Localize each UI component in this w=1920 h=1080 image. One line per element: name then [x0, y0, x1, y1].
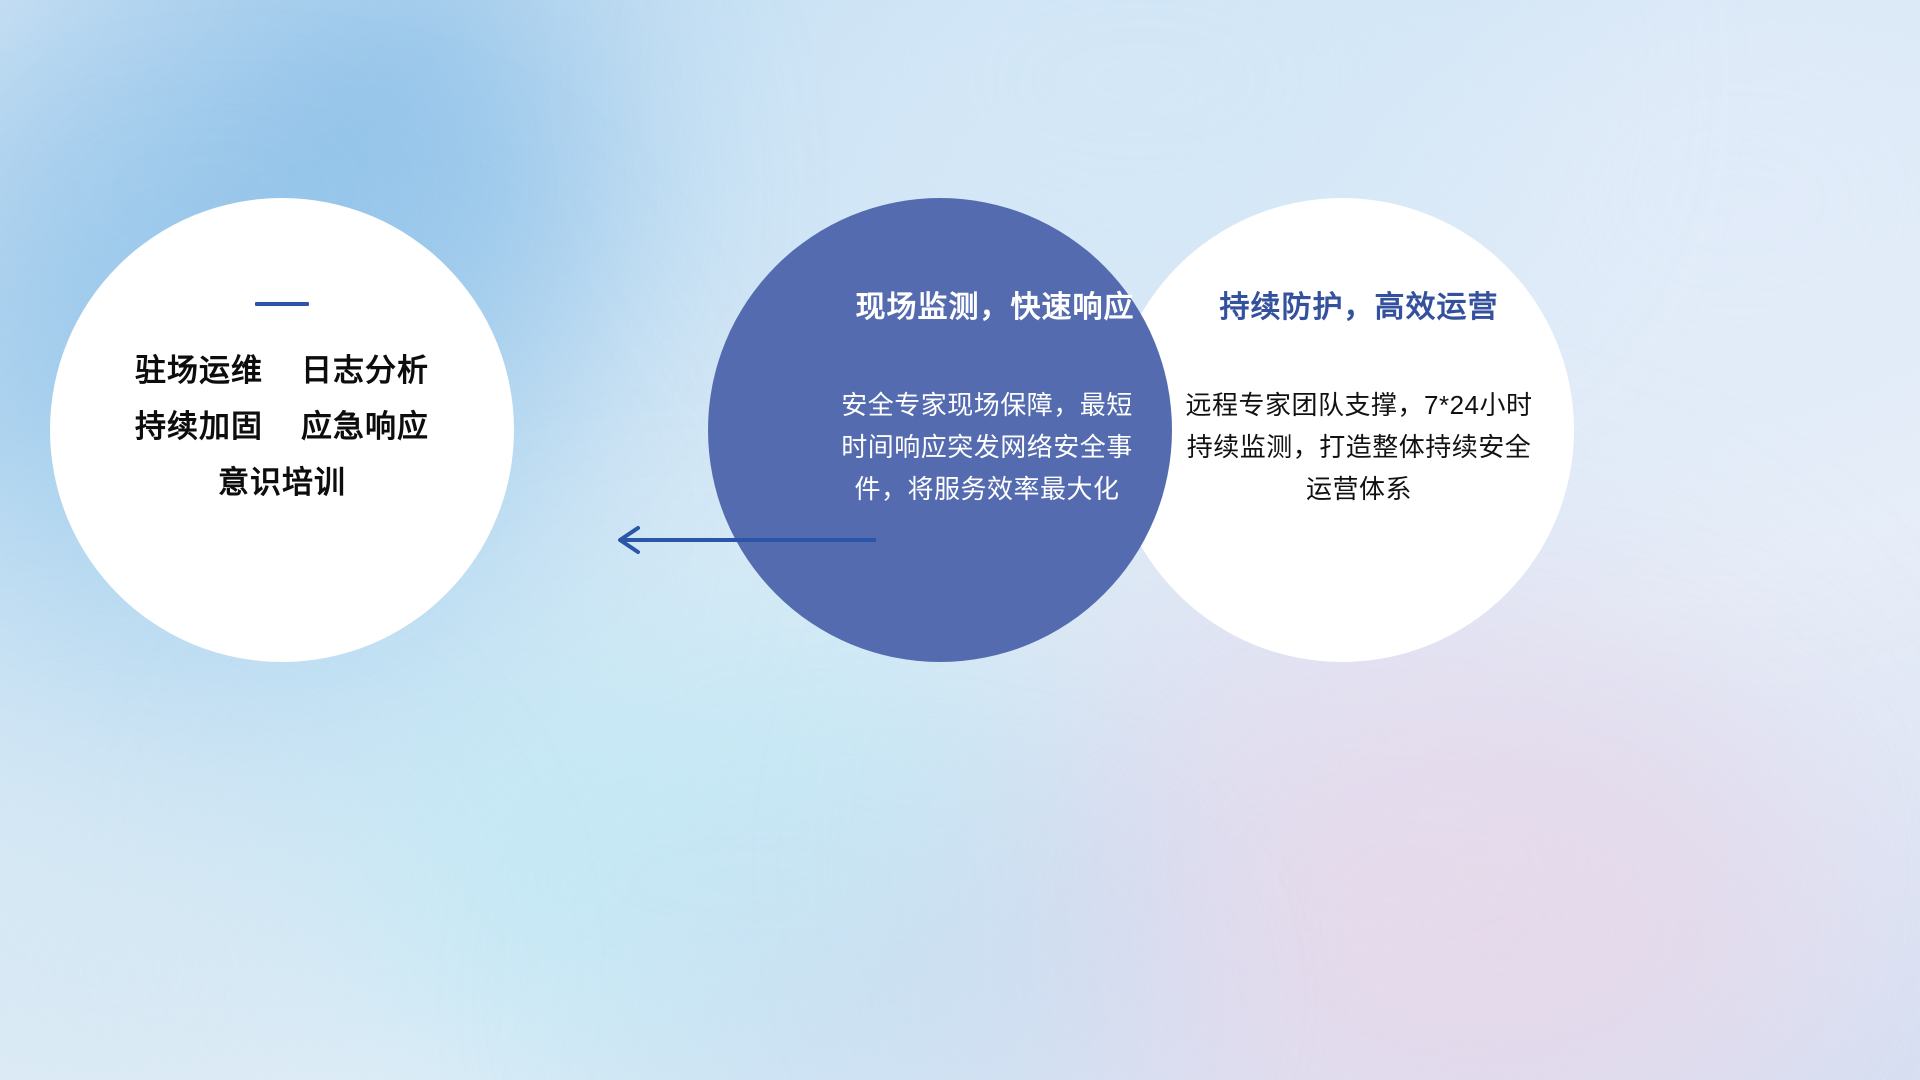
right-service-circle[interactable]: 持续防护，高效运营 远程专家团队支撑，7*24小时持续监测，打造整体持续安全运营… [1110, 198, 1574, 662]
right-circle-title: 持续防护，高效运营 [1220, 290, 1499, 326]
right-circle-content: 持续防护，高效运营 远程专家团队支撑，7*24小时持续监测，打造整体持续安全运营… [1110, 198, 1574, 662]
diagram-stage: 驻场运维 日志分析 持续加固 应急响应 意识培训 持续防护，高效运营 远程专家团… [0, 0, 1920, 1080]
right-circle-body: 远程专家团队支撑，7*24小时持续监测，打造整体持续安全运营体系 [1174, 384, 1544, 510]
keyword-row: 持续加固 应急响应 [135, 410, 429, 444]
keyword-row: 意识培训 [218, 466, 346, 500]
middle-service-circle[interactable]: 现场监测，快速响应 安全专家现场保障，最短时间响应突发网络安全事件，将服务效率最… [708, 198, 1172, 662]
left-service-circle[interactable]: 驻场运维 日志分析 持续加固 应急响应 意识培训 [50, 198, 514, 662]
keyword-grid: 驻场运维 日志分析 持续加固 应急响应 意识培训 [135, 354, 429, 500]
title-divider-rule [255, 302, 309, 306]
keyword-row: 驻场运维 日志分析 [135, 354, 429, 388]
keyword-item: 日志分析 [301, 354, 429, 388]
keyword-item: 应急响应 [301, 410, 429, 444]
middle-circle-body: 安全专家现场保障，最短时间响应突发网络安全事件，将服务效率最大化 [837, 384, 1137, 510]
left-circle-content: 驻场运维 日志分析 持续加固 应急响应 意识培训 [50, 198, 514, 662]
middle-circle-content: 现场监测，快速响应 安全专家现场保障，最短时间响应突发网络安全事件，将服务效率最… [708, 198, 1172, 662]
keyword-item: 驻场运维 [135, 354, 263, 388]
left-arrow-icon [600, 520, 880, 560]
keyword-item: 意识培训 [218, 466, 346, 500]
middle-circle-title: 现场监测，快速响应 [856, 290, 1135, 326]
keyword-item: 持续加固 [135, 410, 263, 444]
